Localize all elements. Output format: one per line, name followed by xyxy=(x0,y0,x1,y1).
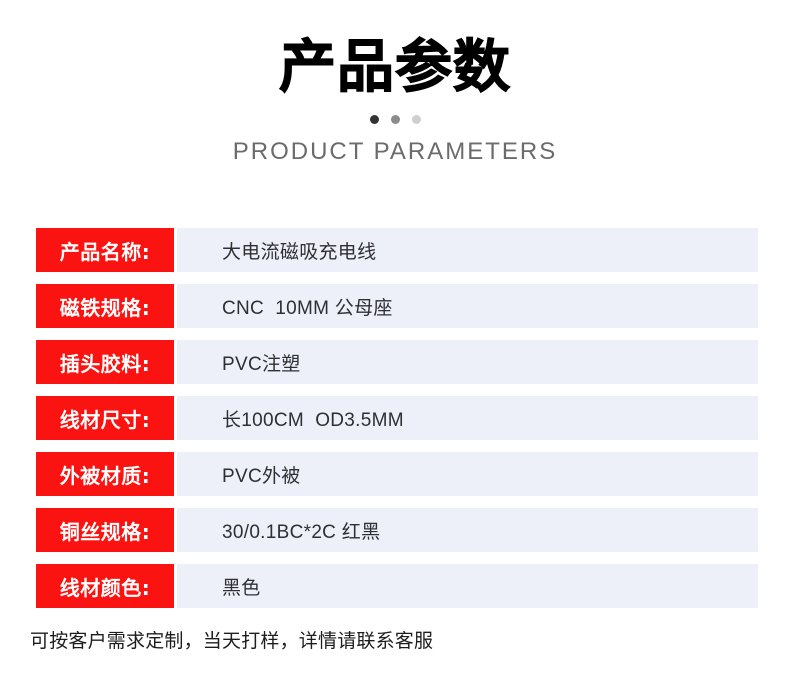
table-row: 线材颜色: 黑色 xyxy=(36,564,758,608)
dot-separator xyxy=(0,115,790,124)
row-value-cell: PVC外被 xyxy=(177,452,758,496)
row-value: CNC 10MM 公母座 xyxy=(222,293,393,320)
row-value-cell: 黑色 xyxy=(177,564,758,608)
table-row: 铜丝规格: 30/0.1BC*2C 红黑 xyxy=(36,508,758,552)
page-header: 产品参数 PRODUCT PARAMETERS xyxy=(0,0,790,166)
row-label: 磁铁规格: xyxy=(36,284,174,328)
table-row: 线材尺寸: 长100CM OD3.5MM xyxy=(36,396,758,440)
table-row: 外被材质: PVC外被 xyxy=(36,452,758,496)
table-row: 产品名称: 大电流磁吸充电线 xyxy=(36,228,758,272)
row-value: PVC注塑 xyxy=(222,349,301,376)
dot-light-icon xyxy=(412,115,421,124)
row-value: 30/0.1BC*2C 红黑 xyxy=(222,517,380,544)
row-value-cell: 30/0.1BC*2C 红黑 xyxy=(177,508,758,552)
row-label: 线材尺寸: xyxy=(36,396,174,440)
row-value: 大电流磁吸充电线 xyxy=(222,237,376,264)
row-value: PVC外被 xyxy=(222,461,301,488)
product-parameters-page: 产品参数 PRODUCT PARAMETERS 产品名称: 大电流磁吸充电线 磁… xyxy=(0,0,790,682)
page-title: 产品参数 xyxy=(0,38,790,98)
footer-note: 可按客户需求定制，当天打样，详情请联系客服 xyxy=(30,626,433,653)
row-value: 黑色 xyxy=(222,573,261,600)
parameters-table: 产品名称: 大电流磁吸充电线 磁铁规格: CNC 10MM 公母座 插头胶料: … xyxy=(36,228,758,608)
row-label: 产品名称: xyxy=(36,228,174,272)
row-value-cell: 长100CM OD3.5MM xyxy=(177,396,758,440)
row-label: 插头胶料: xyxy=(36,340,174,384)
row-value-cell: PVC注塑 xyxy=(177,340,758,384)
page-subtitle: PRODUCT PARAMETERS xyxy=(0,124,790,166)
row-value: 长100CM OD3.5MM xyxy=(222,405,404,432)
dot-dark-icon xyxy=(370,115,379,124)
row-label: 铜丝规格: xyxy=(36,508,174,552)
dot-medium-icon xyxy=(391,115,400,124)
row-label: 线材颜色: xyxy=(36,564,174,608)
table-row: 插头胶料: PVC注塑 xyxy=(36,340,758,384)
row-value-cell: 大电流磁吸充电线 xyxy=(177,228,758,272)
row-label: 外被材质: xyxy=(36,452,174,496)
row-value-cell: CNC 10MM 公母座 xyxy=(177,284,758,328)
table-row: 磁铁规格: CNC 10MM 公母座 xyxy=(36,284,758,328)
